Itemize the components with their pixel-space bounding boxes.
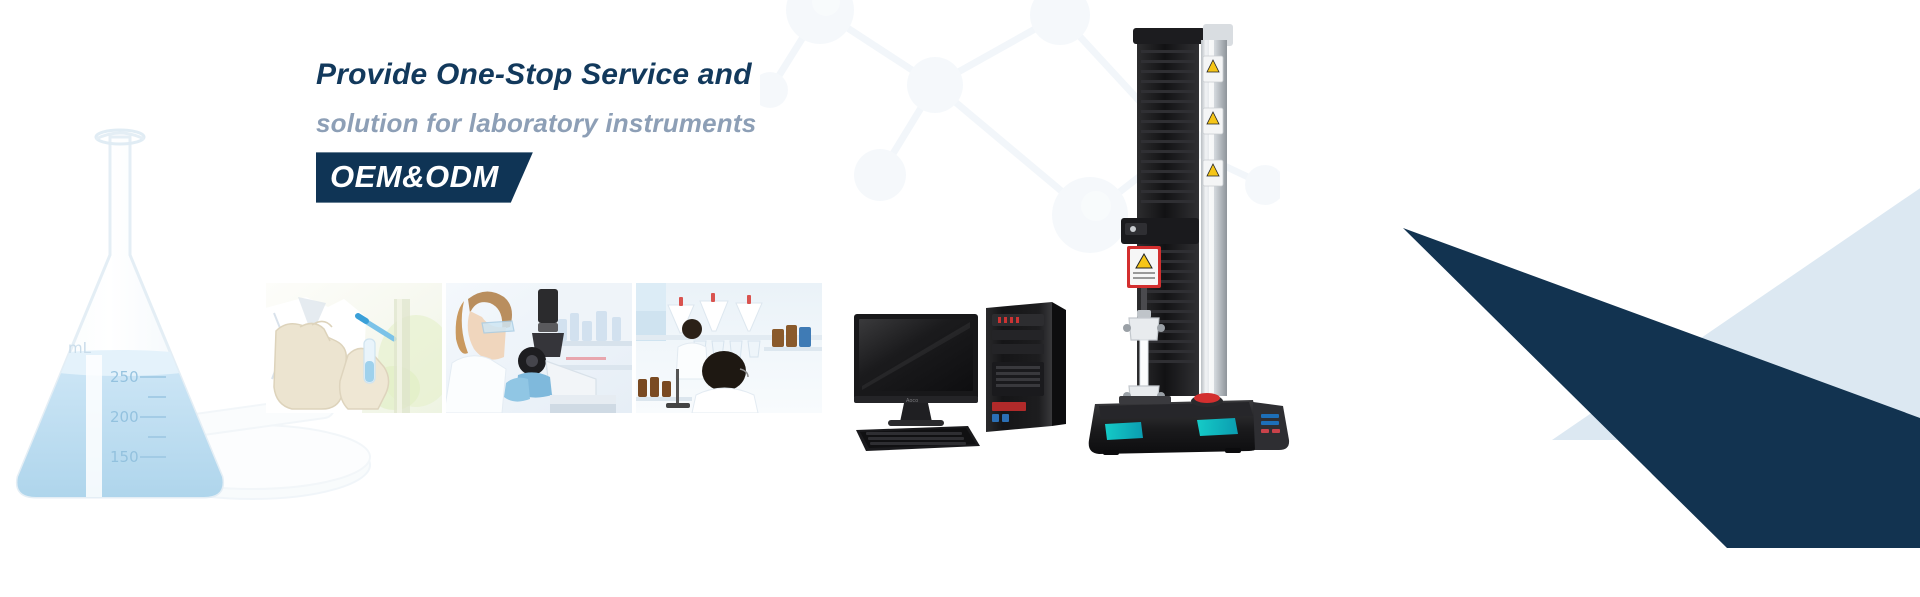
oem-odm-badge: OEM&ODM (316, 152, 533, 202)
lab-photo-strip (266, 283, 822, 413)
flask-unit-label: mL (68, 339, 92, 357)
lab-photo-technicians-bench (636, 283, 822, 413)
flask-graduation-150: 150 (110, 448, 139, 466)
promo-banner: 250 200 150 mL Provide One-Stop Service … (0, 0, 1920, 597)
lab-photo-gloved-hands-pipetting (266, 283, 442, 413)
flask-graduation-250: 250 (110, 368, 139, 386)
headline-block: Provide One-Stop Service and solution fo… (316, 58, 1076, 203)
lab-photo-microscope (446, 283, 632, 413)
flask-graduation-200: 200 (110, 408, 139, 426)
desktop-computer-product: Aoco (852, 300, 1102, 455)
headline-line1: Provide One-Stop Service and (316, 58, 1076, 93)
tensile-testing-machine-product (1085, 20, 1300, 455)
headline-line2: solution for laboratory instruments (316, 109, 1076, 139)
